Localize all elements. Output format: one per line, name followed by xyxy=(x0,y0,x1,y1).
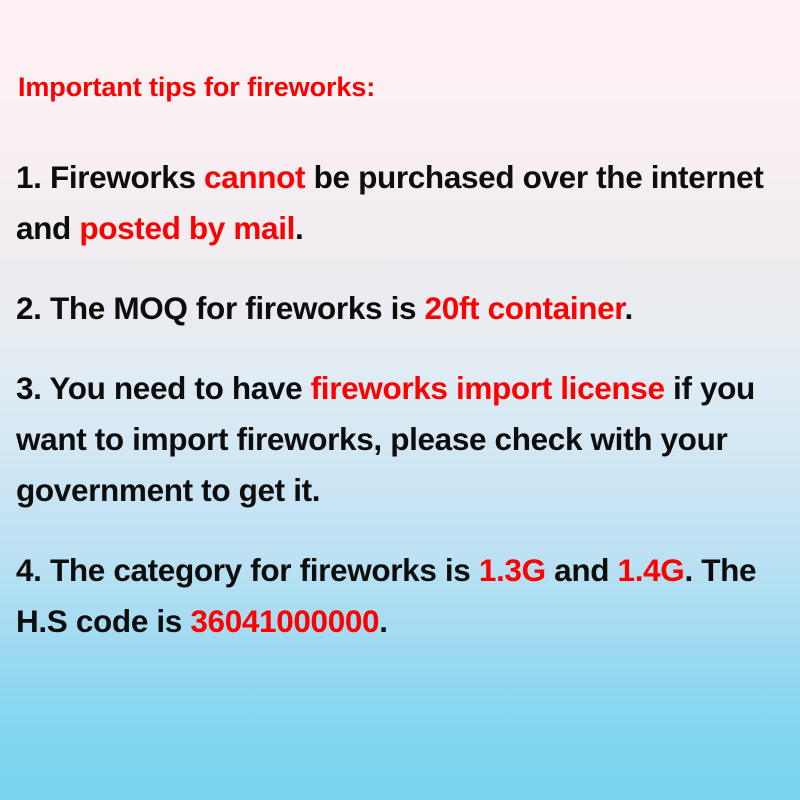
tip-highlight-text: 20ft container xyxy=(425,290,625,326)
tip-body-text: . xyxy=(379,603,387,639)
tips-list: 1. Fireworks cannot be purchased over th… xyxy=(16,152,788,647)
tip-item: 2. The MOQ for fireworks is 20ft contain… xyxy=(16,283,788,334)
page-title: Important tips for fireworks: xyxy=(18,72,375,103)
tip-highlight-text: cannot xyxy=(204,159,305,195)
tip-highlight-text: 1.4G xyxy=(618,552,685,588)
tip-highlight-text: fireworks import license xyxy=(311,370,665,406)
tip-item: 4. The category for fireworks is 1.3G an… xyxy=(16,545,788,647)
tip-body-text: 4. The category for fireworks is xyxy=(16,552,479,588)
tip-body-text: and xyxy=(546,552,618,588)
tip-body-text: . xyxy=(624,290,632,326)
tip-highlight-text: 36041000000 xyxy=(190,603,379,639)
tip-body-text: 2. The MOQ for fireworks is xyxy=(16,290,425,326)
tip-highlight-text: posted by mail xyxy=(79,210,295,246)
tip-highlight-text: 1.3G xyxy=(479,552,546,588)
tip-item: 1. Fireworks cannot be purchased over th… xyxy=(16,152,788,254)
tip-body-text: . xyxy=(295,210,303,246)
tip-item: 3. You need to have fireworks import lic… xyxy=(16,363,788,516)
tip-body-text: 1. Fireworks xyxy=(16,159,204,195)
fireworks-tips-poster: Important tips for fireworks: 1. Firewor… xyxy=(0,0,800,800)
tip-body-text: 3. You need to have xyxy=(16,370,311,406)
